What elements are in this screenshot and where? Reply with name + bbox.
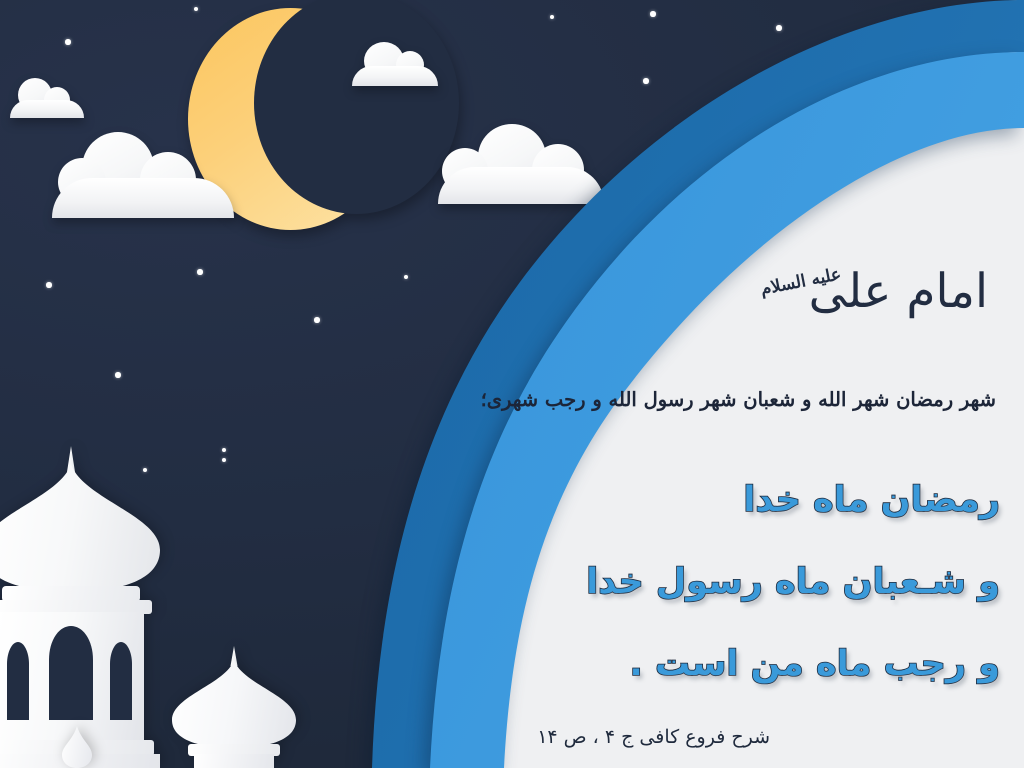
source-citation: شرح فروع کافی ج ۴ ، ص ۱۴ [537, 726, 770, 748]
hadith-persian-line-3: و رجب ماه من است . [416, 644, 1024, 684]
hadith-persian-line-1: رمضان ماه خدا [416, 480, 1024, 520]
hadith-arabic-text: شهر رمضان شهر الله و شعبان شهر رسول الله… [406, 388, 996, 411]
hadith-persian-line-2: و شـعبان ماه رسول خدا [416, 562, 1024, 602]
cloud-base [10, 100, 84, 118]
onion-dome [0, 464, 160, 592]
onion-dome [172, 660, 296, 748]
cloud-base [52, 178, 234, 218]
small-onion-dome-icon [172, 646, 296, 768]
arch-window [7, 642, 29, 720]
star-icon [65, 39, 70, 44]
arch-window [110, 642, 132, 720]
mosque-pavilion-icon [0, 446, 160, 768]
cloud-icon [52, 132, 234, 218]
star-icon [314, 317, 319, 322]
star-icon [46, 282, 51, 287]
cloud-icon [10, 78, 84, 118]
star-icon [197, 269, 202, 274]
arch-window [49, 626, 93, 720]
minaret-tip-icon [62, 726, 92, 768]
star-icon [115, 372, 120, 377]
text-panel: امام علی علیه السلام شهر رمضان شهر الله … [404, 0, 1024, 768]
minaret-dome [62, 726, 92, 768]
dome-body [194, 754, 274, 768]
ramadan-hadith-card: امام علی علیه السلام شهر رمضان شهر الله … [0, 0, 1024, 768]
